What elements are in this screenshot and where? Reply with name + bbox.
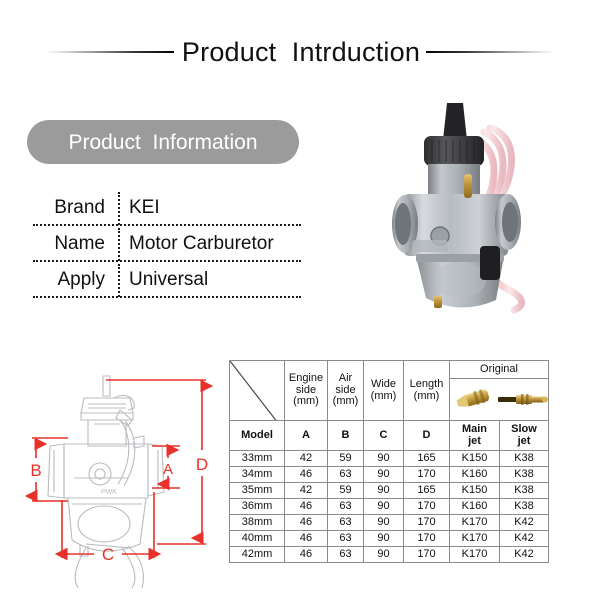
cell-model: 35mm	[230, 483, 285, 499]
cell-main-jet: K150	[450, 483, 500, 499]
cell-model: 34mm	[230, 467, 285, 483]
cell-b: 59	[328, 483, 364, 499]
cell-d: 170	[404, 499, 450, 515]
cell-d: 170	[404, 515, 450, 531]
dimension-label-a: A	[163, 461, 173, 478]
spec-header-jet-images	[450, 378, 549, 420]
spec-header-length-line2: (mm)	[405, 391, 448, 403]
bowl-drain-screw-icon	[434, 296, 442, 308]
cell-model: 42mm	[230, 547, 285, 563]
cell-c: 90	[364, 515, 404, 531]
spec-header-engine-side-line3: (mm)	[286, 396, 326, 408]
cell-c: 90	[364, 483, 404, 499]
spec-symbol-row: Model A B C D Main jet Slow jet	[230, 421, 549, 451]
cell-a: 46	[285, 515, 328, 531]
dimension-label-c: C	[102, 545, 114, 564]
cell-slow-jet: K38	[500, 499, 549, 515]
info-row-brand: Brand KEI	[33, 190, 301, 226]
spec-symbol-main-jet-line1: Main	[450, 424, 499, 436]
slow-jet-icon	[496, 390, 548, 408]
cell-slow-jet: K42	[500, 515, 549, 531]
spec-symbol-main-jet: Main jet	[450, 421, 500, 451]
cell-b: 63	[328, 547, 364, 563]
product-information-heading: Product Information	[27, 120, 299, 164]
main-jet-icon	[451, 388, 495, 410]
spec-header-original: Original	[450, 361, 549, 379]
cell-c: 90	[364, 531, 404, 547]
cell-b: 63	[328, 499, 364, 515]
carburetor-top-cap-icon	[424, 136, 484, 166]
cell-c: 90	[364, 547, 404, 563]
spec-header-wide-line2: (mm)	[365, 391, 402, 403]
page-title: Product Intrduction	[182, 39, 420, 66]
info-row-apply: Apply Universal	[33, 262, 301, 298]
cell-model: 36mm	[230, 499, 285, 515]
product-information-label: Product Information	[68, 132, 257, 153]
cell-a: 42	[285, 483, 328, 499]
spec-symbol-slow-jet: Slow jet	[500, 421, 549, 451]
cell-model: 40mm	[230, 531, 285, 547]
info-row-divider	[118, 228, 120, 261]
fuel-hose-loop-icon	[502, 286, 522, 310]
hose-clip-icon	[480, 246, 500, 280]
cell-a: 46	[285, 547, 328, 563]
corner-slash-icon	[230, 361, 284, 421]
spec-header-air-side-line3: (mm)	[329, 396, 362, 408]
cell-b: 63	[328, 467, 364, 483]
product-photo	[372, 88, 596, 316]
specification-table-container: Engine side (mm) Air side (mm) Wide (mm)…	[229, 360, 548, 563]
info-label-apply: Apply	[33, 270, 115, 289]
diagram-body-mark: PWK	[101, 489, 117, 496]
spec-symbol-slow-jet-line2: jet	[500, 436, 548, 448]
spec-header-wide: Wide (mm)	[364, 361, 404, 421]
title-rule-left	[44, 51, 174, 53]
info-label-name: Name	[33, 234, 115, 253]
spec-header-length-line1: Length	[405, 379, 448, 391]
cell-main-jet: K170	[450, 515, 500, 531]
spec-symbol-slow-jet-line1: Slow	[500, 424, 548, 436]
cell-main-jet: K170	[450, 547, 500, 563]
spec-header-air-side-line1: Air	[329, 373, 362, 385]
dimension-d-arrow	[106, 380, 206, 544]
cell-d: 170	[404, 531, 450, 547]
dimension-label-d: D	[196, 455, 208, 474]
cell-model: 33mm	[230, 451, 285, 467]
spec-symbol-b: B	[328, 421, 364, 451]
cell-slow-jet: K42	[500, 547, 549, 563]
cell-d: 165	[404, 483, 450, 499]
cell-a: 46	[285, 531, 328, 547]
info-value-apply: Universal	[115, 270, 208, 289]
dimension-label-b: B	[30, 461, 41, 480]
cell-a: 42	[285, 451, 328, 467]
cell-c: 90	[364, 451, 404, 467]
table-row: 35mm 42 59 90 165 K150 K38	[230, 483, 549, 499]
spec-header-engine-side-line1: Engine	[286, 373, 326, 385]
page-title-bar: Product Intrduction	[0, 30, 600, 74]
spec-symbol-a: A	[285, 421, 328, 451]
cell-b: 63	[328, 531, 364, 547]
spec-symbol-main-jet-line2: jet	[450, 436, 499, 448]
cell-a: 46	[285, 467, 328, 483]
info-value-name: Motor Carburetor	[115, 234, 274, 253]
info-label-brand: Brand	[33, 198, 115, 217]
info-row-divider	[118, 264, 120, 297]
dimension-diagram: PWK D B A C	[2, 358, 230, 590]
carburetor-top-needle-icon	[443, 103, 467, 140]
cell-b: 63	[328, 515, 364, 531]
spec-header-engine-side: Engine side (mm)	[285, 361, 328, 421]
info-row-divider	[118, 192, 120, 225]
table-row: 36mm 46 63 90 170 K160 K38	[230, 499, 549, 515]
cell-a: 46	[285, 499, 328, 515]
cell-b: 59	[328, 451, 364, 467]
cell-slow-jet: K38	[500, 451, 549, 467]
table-row: 33mm 42 59 90 165 K150 K38	[230, 451, 549, 467]
cell-d: 170	[404, 547, 450, 563]
spec-header-wide-line1: Wide	[365, 379, 402, 391]
cell-slow-jet: K38	[500, 467, 549, 483]
cell-main-jet: K170	[450, 531, 500, 547]
specification-table: Engine side (mm) Air side (mm) Wide (mm)…	[229, 360, 549, 563]
title-rule-right	[426, 51, 556, 53]
spec-symbol-d: D	[404, 421, 450, 451]
info-value-brand: KEI	[115, 198, 160, 217]
spec-header-row-units: Engine side (mm) Air side (mm) Wide (mm)…	[230, 361, 549, 379]
cell-c: 90	[364, 499, 404, 515]
product-information-table: Brand KEI Name Motor Carburetor Apply Un…	[33, 190, 301, 298]
cell-model: 38mm	[230, 515, 285, 531]
spec-header-air-side: Air side (mm)	[328, 361, 364, 421]
cell-slow-jet: K38	[500, 483, 549, 499]
cell-main-jet: K160	[450, 499, 500, 515]
spec-symbol-model: Model	[230, 421, 285, 451]
cell-slow-jet: K42	[500, 531, 549, 547]
info-row-name: Name Motor Carburetor	[33, 226, 301, 262]
table-row: 38mm 46 63 90 170 K170 K42	[230, 515, 549, 531]
cell-main-jet: K150	[450, 451, 500, 467]
cell-d: 170	[404, 467, 450, 483]
spec-corner-cell	[230, 361, 285, 421]
spec-symbol-c: C	[364, 421, 404, 451]
table-row: 34mm 46 63 90 170 K160 K38	[230, 467, 549, 483]
cell-d: 165	[404, 451, 450, 467]
table-row: 40mm 46 63 90 170 K170 K42	[230, 531, 549, 547]
cell-c: 90	[364, 467, 404, 483]
spec-header-length: Length (mm)	[404, 361, 450, 421]
table-row: 42mm 46 63 90 170 K170 K42	[230, 547, 549, 563]
brass-adjuster-screw-icon	[464, 174, 472, 198]
cell-main-jet: K160	[450, 467, 500, 483]
